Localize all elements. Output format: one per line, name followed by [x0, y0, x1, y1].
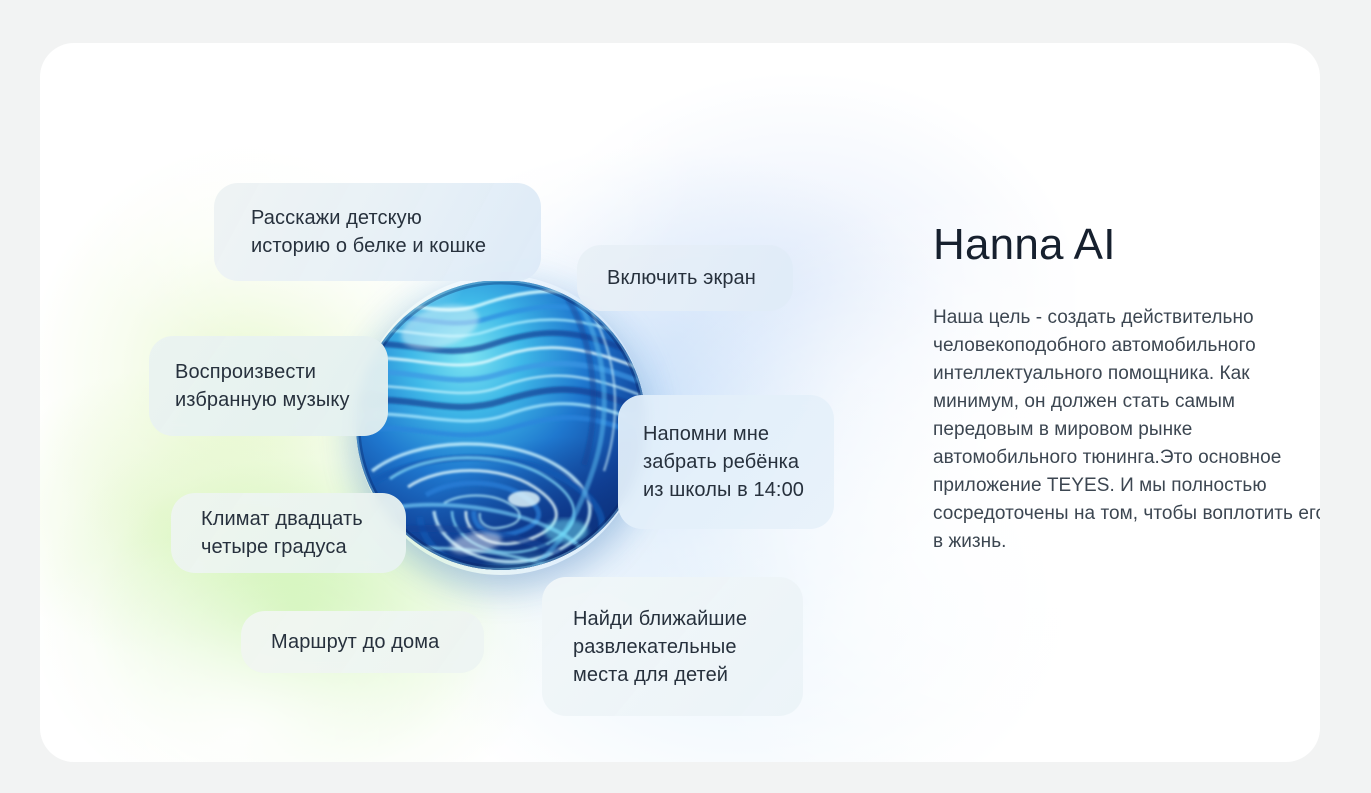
bubble-line: развлекательные: [573, 633, 803, 661]
bubble-line: Найди ближайшие: [573, 605, 803, 633]
suggestion-bubble-route[interactable]: Маршрут до дома: [241, 611, 484, 673]
suggestion-bubble-places[interactable]: Найди ближайшие развлекательные места дл…: [542, 577, 803, 716]
suggestion-bubble-reminder[interactable]: Напомни мне забрать ребёнка из школы в 1…: [618, 395, 834, 529]
bubble-line: Напомни мне: [643, 420, 834, 448]
page-title: Hanna AI: [933, 218, 1320, 272]
info-panel: Hanna AI Наша цель - создать действитель…: [933, 218, 1320, 556]
bubble-line: места для детей: [573, 661, 803, 689]
bubble-line: Расскажи детскую: [251, 204, 541, 232]
suggestion-bubble-music[interactable]: Воспроизвести избранную музыку: [149, 336, 388, 436]
info-description: Наша цель - создать действительно челове…: [933, 304, 1320, 556]
suggestion-bubble-story[interactable]: Расскажи детскую историю о белке и кошке: [214, 183, 541, 281]
suggestion-bubble-screen[interactable]: Включить экран: [577, 245, 793, 311]
bubble-line: Воспроизвести: [175, 358, 388, 386]
bubble-line: Включить экран: [607, 264, 793, 292]
hanna-ai-card: Расскажи детскую историю о белке и кошке…: [40, 43, 1320, 762]
bubble-line: Маршрут до дома: [271, 628, 484, 656]
bubble-line: забрать ребёнка: [643, 448, 834, 476]
bubble-line: из школы в 14:00: [643, 476, 834, 504]
bubble-line: историю о белке и кошке: [251, 232, 541, 260]
bubble-line: избранную музыку: [175, 386, 388, 414]
bubble-line: Климат двадцать: [201, 505, 406, 533]
bubble-line: четыре градуса: [201, 533, 406, 561]
suggestion-bubble-climate[interactable]: Климат двадцать четыре градуса: [171, 493, 406, 573]
